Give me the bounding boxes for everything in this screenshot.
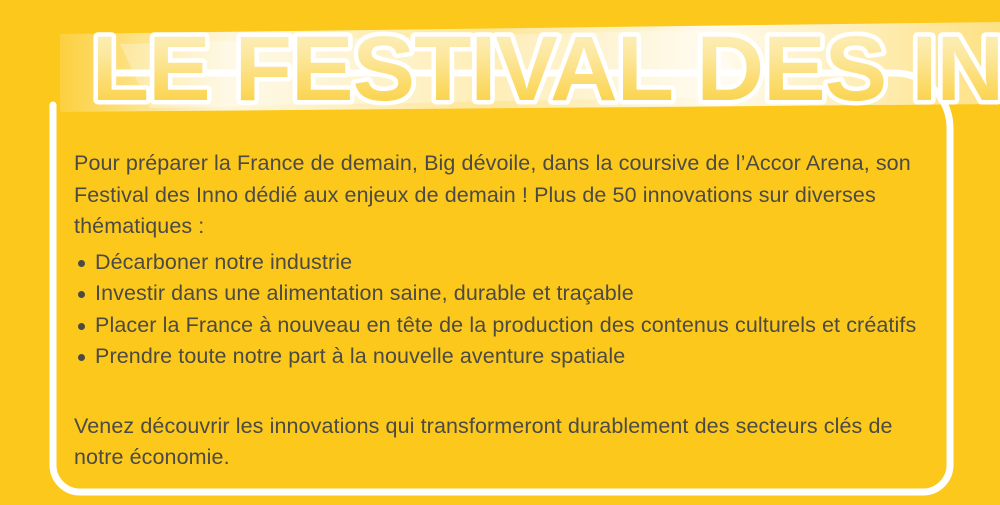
list-item: Investir dans une alimentation saine, du…: [74, 278, 924, 310]
outro-paragraph: Venez découvrir les innovations qui tran…: [74, 411, 924, 474]
poster-body: Pour préparer la France de demain, Big d…: [74, 148, 924, 474]
bullet-dot-icon: [78, 291, 85, 298]
poster-title: LE FESTIVAL DES INNO LE FESTIVAL DES INN…: [0, 0, 1000, 125]
bullet-dot-icon: [78, 354, 85, 361]
list-item-label: Décarboner notre industrie: [95, 250, 352, 274]
list-item: Décarboner notre industrie: [74, 247, 924, 279]
svg-text:LE FESTIVAL DES INNO: LE FESTIVAL DES INNO: [92, 17, 1000, 120]
list-item-label: Prendre toute notre part à la nouvelle a…: [95, 344, 625, 368]
list-item: Prendre toute notre part à la nouvelle a…: [74, 341, 924, 373]
festival-poster: LE FESTIVAL DES INNO LE FESTIVAL DES INN…: [0, 0, 1000, 505]
list-item-label: Placer la France à nouveau en tête de la…: [95, 313, 916, 337]
intro-paragraph: Pour préparer la France de demain, Big d…: [74, 148, 924, 243]
bullet-dot-icon: [78, 260, 85, 267]
bullet-dot-icon: [78, 323, 85, 330]
list-item: Placer la France à nouveau en tête de la…: [74, 310, 924, 342]
innovation-themes-list: Décarboner notre industrie Investir dans…: [74, 247, 924, 373]
list-item-label: Investir dans une alimentation saine, du…: [95, 281, 634, 305]
